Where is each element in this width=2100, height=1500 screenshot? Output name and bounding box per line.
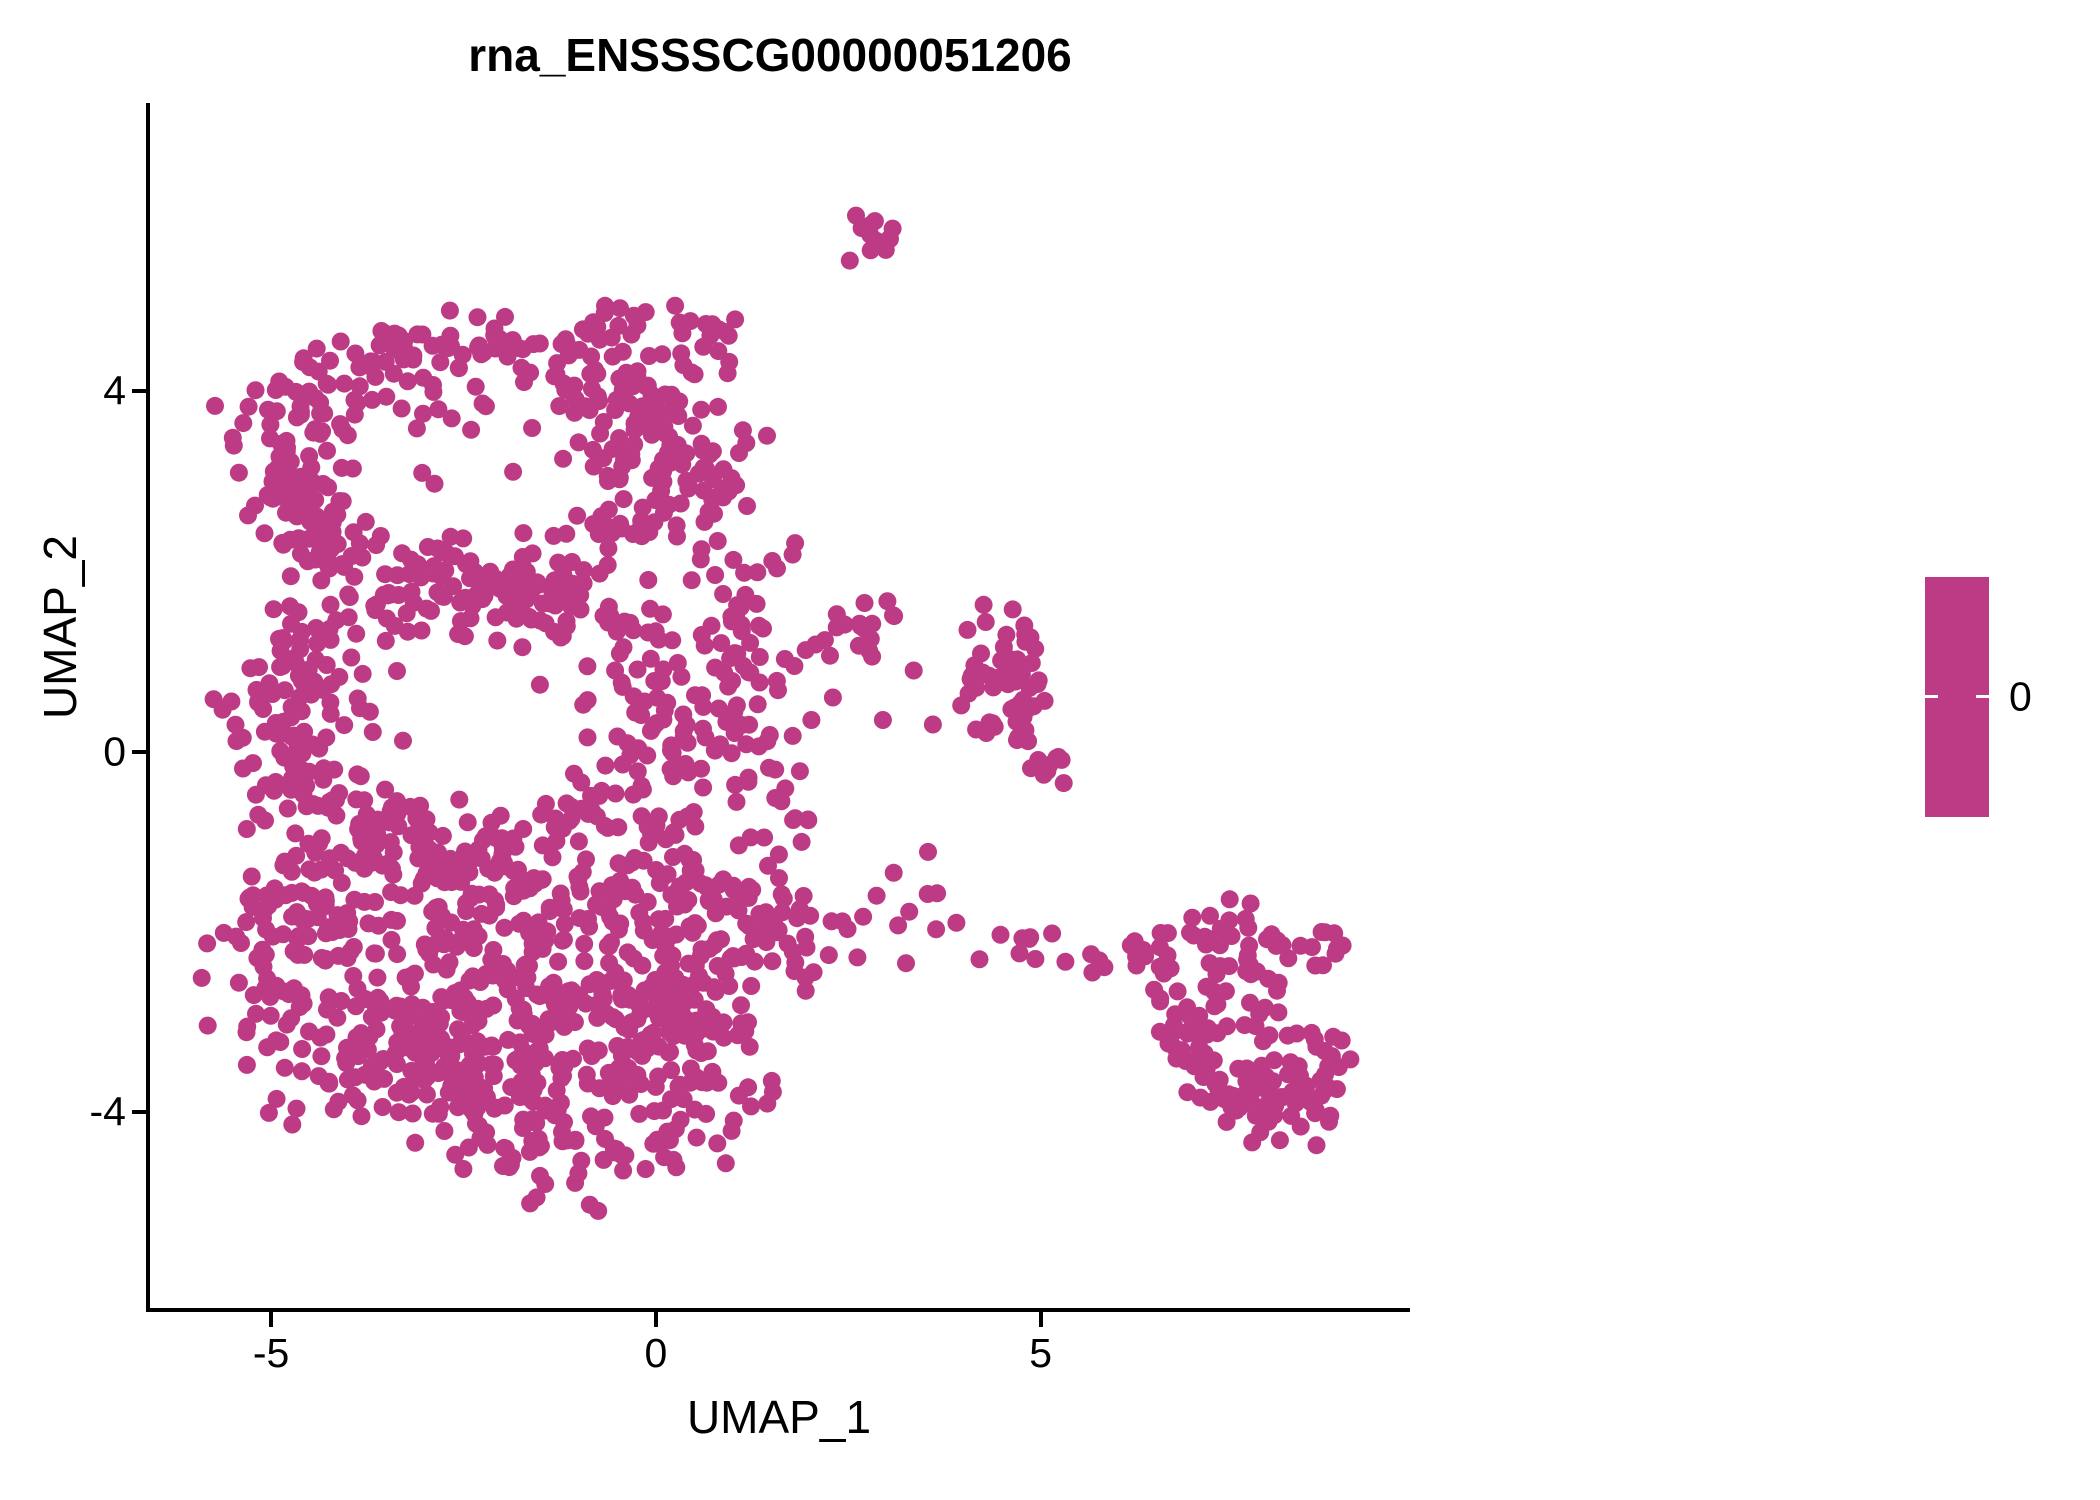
x-axis-line (146, 1308, 1410, 1312)
y-tick-label: 4 (103, 368, 126, 415)
y-tick-label: -4 (90, 1088, 126, 1135)
y-tick-mark (132, 389, 146, 393)
x-tick-label: 5 (1029, 1330, 1052, 1377)
x-tick-mark (654, 1312, 658, 1327)
x-axis-title: UMAP_1 (148, 1390, 1410, 1444)
y-tick-mark (132, 1110, 146, 1114)
y-axis-line (146, 103, 150, 1312)
chart-page: rna_ENSSSCG00000051206 40-4 -505 UMAP_2 … (0, 0, 2100, 1500)
x-tick-mark (1039, 1312, 1043, 1327)
y-tick-label: 0 (103, 728, 126, 775)
plot-panel (148, 103, 1410, 1310)
legend: 0 (1925, 577, 1989, 817)
x-tick-label: 0 (644, 1330, 667, 1377)
page-title: rna_ENSSSCG00000051206 (0, 28, 1540, 82)
x-tick-mark (269, 1312, 273, 1327)
y-axis-title: UMAP_2 (33, 447, 87, 807)
legend-tick-right (1976, 695, 1989, 698)
scatter-plot (148, 103, 1410, 1310)
y-tick-mark (132, 750, 146, 754)
legend-tick-label: 0 (2009, 674, 2032, 721)
x-tick-label: -5 (253, 1330, 289, 1377)
legend-tick-left (1925, 695, 1938, 698)
